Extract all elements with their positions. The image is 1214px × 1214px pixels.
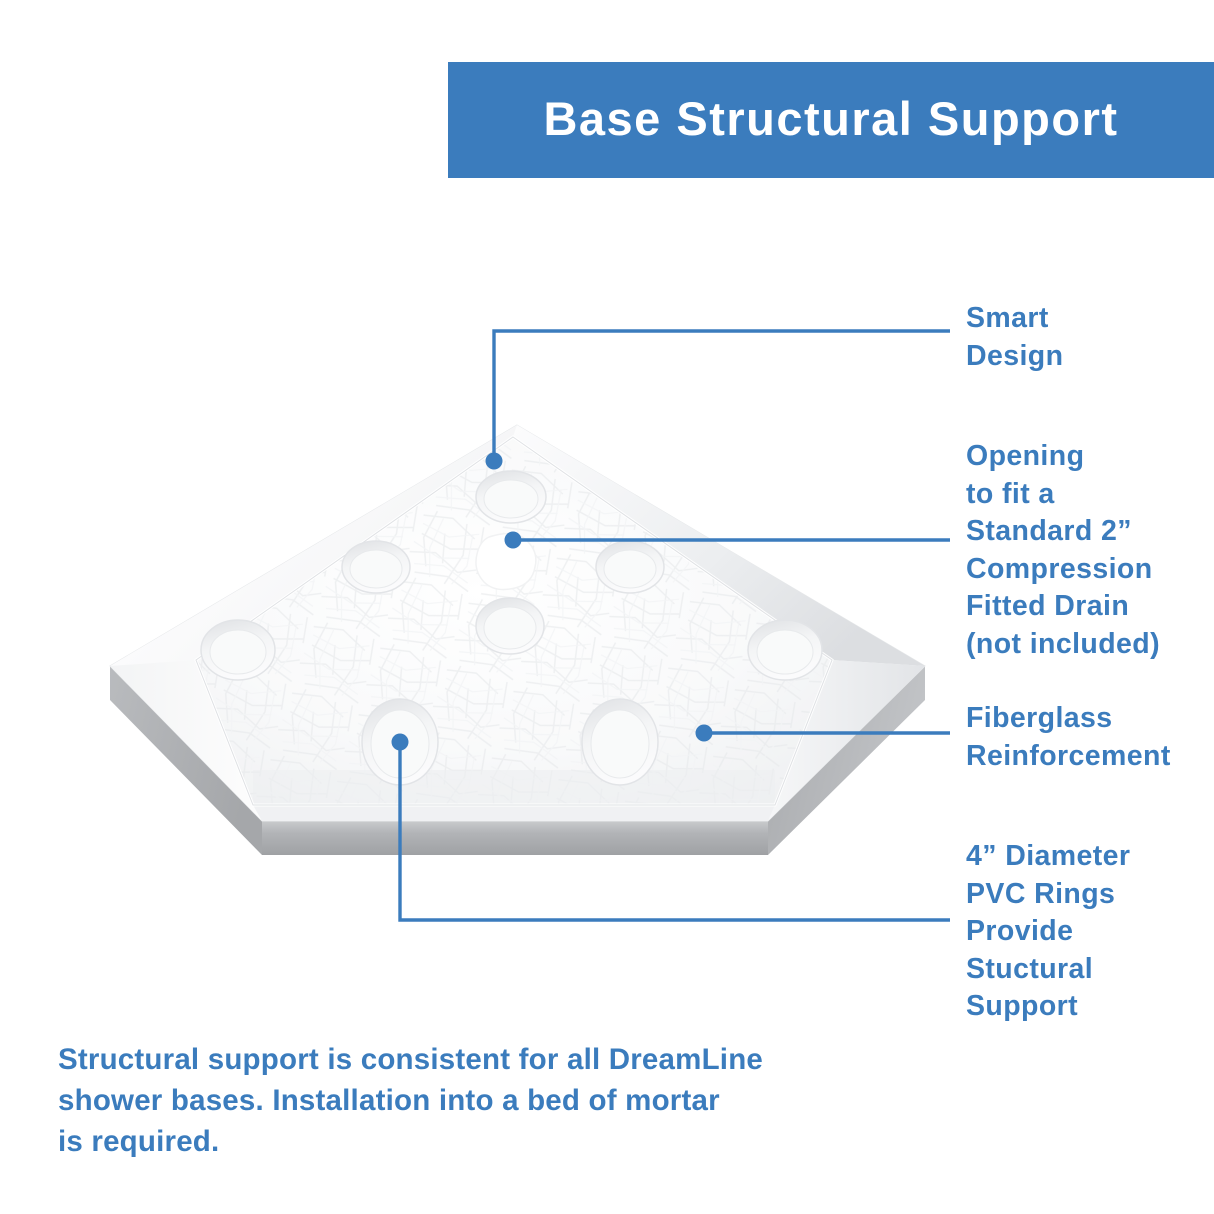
callout-label-pvc-rings: 4” Diameter PVC Rings Provide Stuctural … <box>966 838 1130 1026</box>
pvc-ring <box>476 598 544 654</box>
drain-opening <box>476 533 536 589</box>
page-root: Base Structural Support Smart Design Ope… <box>0 0 1214 1214</box>
callout-label-fiberglass: Fiberglass Reinforcement <box>966 700 1171 775</box>
pvc-ring <box>342 541 410 593</box>
callout-label-opening: Opening to fit a Standard 2” Compression… <box>966 438 1160 664</box>
pvc-ring <box>362 699 438 785</box>
pvc-ring <box>596 541 664 593</box>
callout-label-smart-design: Smart Design <box>966 300 1063 375</box>
page-title: Base Structural Support <box>448 62 1214 178</box>
bottom-note-text: Structural support is consistent for all… <box>58 1039 818 1162</box>
pvc-ring <box>476 471 546 523</box>
pvc-ring <box>582 699 658 785</box>
pvc-ring <box>201 620 275 680</box>
header-bar: Base Structural Support <box>448 62 1214 178</box>
pvc-ring <box>748 620 822 680</box>
